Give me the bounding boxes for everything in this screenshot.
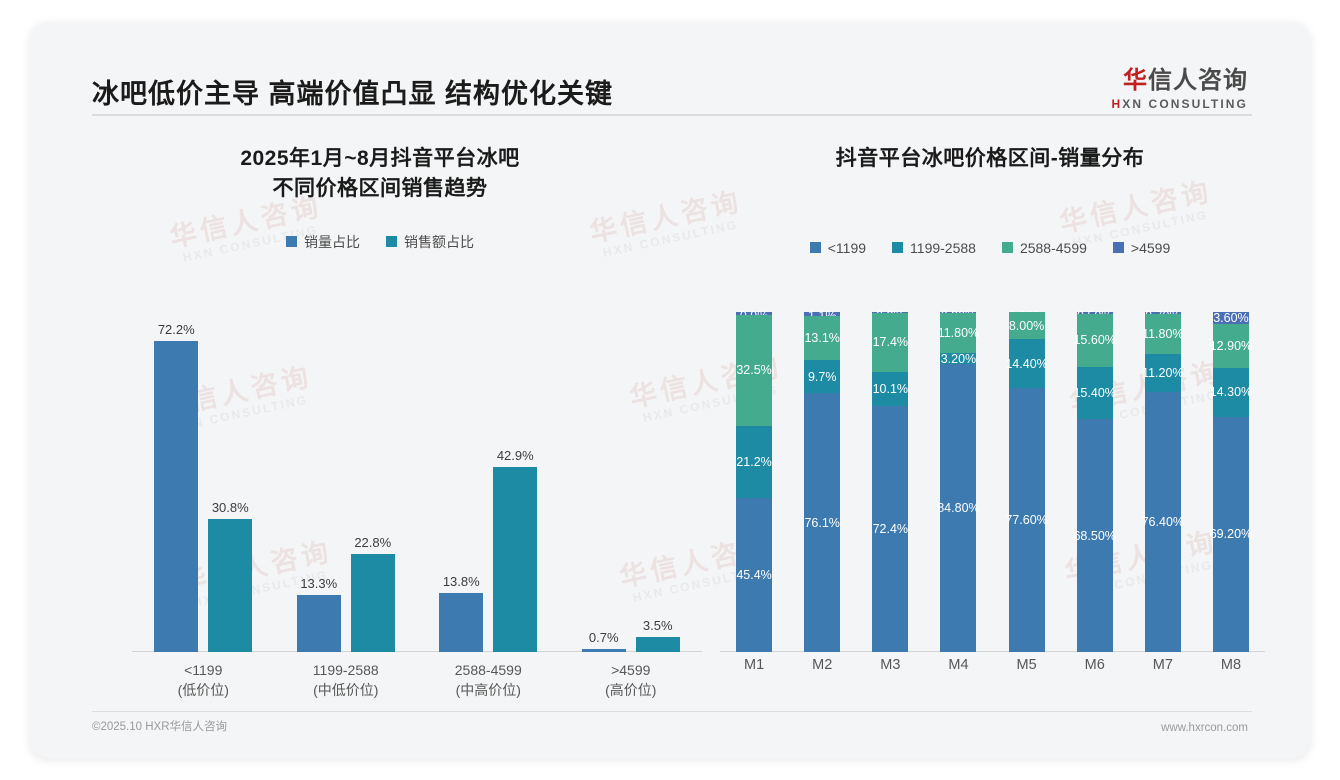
bar-rect[interactable] (208, 519, 252, 652)
legend-label: 销量占比 (304, 232, 360, 252)
stacked-bar-column[interactable]: 0.9%32.5%21.2%45.4% (736, 312, 772, 652)
bar-rect[interactable] (582, 649, 626, 652)
logo-chinese-text: 华信人咨询 (1111, 60, 1248, 95)
footer-copyright: ©2025.10 HXR华信人咨询 (92, 718, 227, 734)
stacked-bar-column[interactable]: 0.2%17.4%10.1%72.4% (872, 312, 908, 652)
legend-label: >4599 (1131, 240, 1170, 256)
slide-container: 华信人咨询 HXN CONSULTING 华信人咨询 HXN CONSULTIN… (30, 22, 1310, 758)
category-label: 1199-2588(中低价位) (313, 660, 379, 701)
left-chart-title: 2025年1月~8月抖音平台冰吧 不同价格区间销售趋势 (70, 144, 690, 204)
legend-item-sales-volume[interactable]: 销量占比 (286, 232, 360, 252)
bar-group: 72.2%30.8% (132, 307, 275, 652)
stack-segment[interactable]: 68.50% (1077, 419, 1113, 652)
bar-rect[interactable] (297, 595, 341, 652)
legend-label: 2588-4599 (1020, 240, 1087, 256)
stack-segment[interactable]: 72.4% (872, 406, 908, 652)
stack-segment-label: 11.20% (1142, 366, 1183, 380)
stack-segment-label: 3.60% (1213, 311, 1248, 325)
stacked-bar-column[interactable]: 0.00%8.00%14.40%77.60% (1009, 312, 1045, 652)
stack-segment[interactable]: 8.00% (1009, 312, 1045, 339)
stack-segment-label: 72.4% (873, 522, 908, 536)
stack-segment-label: 84.80% (937, 501, 979, 515)
stack-segment-label: 15.60% (1073, 333, 1115, 347)
bar-value-label: 72.2% (158, 322, 195, 337)
stack-segment-label: 69.20% (1210, 527, 1252, 541)
stack-segment-label: 17.4% (873, 335, 908, 349)
stack-segment[interactable]: 21.2% (736, 426, 772, 498)
bar-column[interactable]: 3.5% (636, 307, 680, 652)
legend-item-2588-4599[interactable]: 2588-4599 (1002, 240, 1087, 256)
bar-rect[interactable] (439, 593, 483, 653)
bar-rect[interactable] (493, 467, 537, 652)
bar-column[interactable]: 0.7% (582, 307, 626, 652)
bar-group: 13.8%42.9% (417, 307, 560, 652)
bar-group: 13.3%22.8% (275, 307, 418, 652)
stack-segment-label: 13.1% (804, 331, 839, 345)
bar-column[interactable]: 42.9% (493, 307, 537, 652)
company-logo: 华信人咨询 HXN CONSULTING (1111, 60, 1248, 111)
stack-segment[interactable]: 3.60% (1213, 312, 1249, 324)
stack-segment[interactable]: 14.30% (1213, 368, 1249, 417)
stack-segment[interactable]: 11.80% (940, 313, 976, 353)
stack-segment[interactable]: 14.40% (1009, 339, 1045, 388)
stack-segment-label: 68.50% (1073, 529, 1115, 543)
month-label: M6 (1085, 657, 1105, 673)
month-label: M2 (812, 657, 832, 673)
category-label: <1199(低价位) (178, 660, 229, 701)
left-chart-title-line2: 不同价格区间销售趋势 (70, 174, 690, 204)
month-label: M1 (744, 657, 764, 673)
legend-item-sales-amount[interactable]: 销售额占比 (386, 232, 474, 252)
legend-swatch-icon (1002, 242, 1013, 253)
stack-segment-label: 10.1% (873, 382, 908, 396)
month-label: M8 (1221, 657, 1241, 673)
stack-segment-label: 76.1% (804, 516, 839, 530)
stack-segment-label: 77.60% (1005, 513, 1047, 527)
stacked-bar-column[interactable]: 1.1%13.1%9.7%76.1% (804, 312, 840, 652)
page-title: 冰吧低价主导 高端价值凸显 结构优化关键 (92, 72, 613, 111)
legend-item-gt4599[interactable]: >4599 (1113, 240, 1170, 256)
legend-swatch-icon (1113, 242, 1124, 253)
right-chart-title: 抖音平台冰吧价格区间-销量分布 (700, 144, 1280, 174)
legend-item-1199-2588[interactable]: 1199-2588 (892, 240, 976, 256)
stack-segment-label: 11.80% (938, 326, 979, 340)
legend-label: 销售额占比 (404, 232, 474, 252)
right-chart-legend: <1199 1199-2588 2588-4599 >4599 (700, 240, 1280, 256)
bar-rect[interactable] (351, 554, 395, 652)
stack-segment-label: 76.40% (1142, 515, 1184, 529)
left-chart-plot-area: 72.2%30.8%13.3%22.8%13.8%42.9%0.7%3.5% (132, 307, 702, 652)
stack-segment-label: 11.80% (1142, 327, 1183, 341)
month-label: M3 (880, 657, 900, 673)
stacked-bar-column[interactable]: 0.70%11.80%11.20%76.40% (1145, 312, 1181, 652)
left-chart-panel: 2025年1月~8月抖音平台冰吧 不同价格区间销售趋势 销量占比 销售额占比 7… (70, 122, 690, 702)
stack-segment[interactable]: 11.80% (1145, 314, 1181, 354)
legend-label: <1199 (828, 240, 866, 256)
legend-swatch-icon (286, 236, 297, 247)
stack-segment[interactable]: 77.60% (1009, 388, 1045, 652)
bar-value-label: 0.7% (589, 630, 619, 645)
stack-segment[interactable]: 13.1% (804, 316, 840, 361)
legend-swatch-icon (386, 236, 397, 247)
bar-value-label: 3.5% (643, 618, 673, 633)
stacked-bar-column[interactable]: 3.60%12.90%14.30%69.20% (1213, 312, 1249, 652)
category-label-tier: (高价位) (605, 680, 656, 700)
category-label-tier: (中高价位) (455, 680, 522, 700)
footer-website[interactable]: www.hxrcon.com (1161, 722, 1248, 734)
left-chart-title-line1: 2025年1月~8月抖音平台冰吧 (70, 144, 690, 174)
stack-segment-label: 15.40% (1073, 386, 1115, 400)
right-chart-panel: 抖音平台冰吧价格区间-销量分布 <1199 1199-2588 2588-459… (700, 122, 1280, 702)
month-label: M5 (1016, 657, 1036, 673)
stacked-bar-column[interactable]: 0.50%15.60%15.40%68.50% (1077, 312, 1113, 652)
right-chart-month-labels: M1M2M3M4M5M6M7M8 (720, 657, 1265, 687)
category-label: 2588-4599(中高价位) (455, 660, 522, 701)
bar-value-label: 42.9% (497, 448, 534, 463)
bar-rect[interactable] (154, 341, 198, 652)
category-label: >4599(高价位) (605, 660, 656, 701)
stack-segment[interactable]: 11.20% (1145, 354, 1181, 392)
legend-item-lt1199[interactable]: <1199 (810, 240, 866, 256)
stack-segment[interactable]: 76.40% (1145, 392, 1181, 652)
bar-value-label: 30.8% (212, 500, 249, 515)
header-divider (92, 114, 1252, 116)
category-label-range: >4599 (605, 660, 656, 680)
stack-segment-label: 32.5% (736, 363, 771, 377)
legend-swatch-icon (810, 242, 821, 253)
stacked-bar-column[interactable]: 0.30%11.80%3.20%84.80% (940, 312, 976, 652)
slide-header: 冰吧低价主导 高端价值凸显 结构优化关键 华信人咨询 HXN CONSULTIN… (30, 22, 1310, 110)
x-axis-line (720, 651, 1265, 652)
footer-divider (92, 711, 1252, 712)
bar-column[interactable]: 72.2% (154, 307, 198, 652)
month-label: M7 (1153, 657, 1173, 673)
stack-segment[interactable]: 32.5% (736, 315, 772, 426)
category-label-range: 1199-2588 (313, 660, 379, 680)
bar-column[interactable]: 13.8% (439, 307, 483, 652)
category-label-range: 2588-4599 (455, 660, 522, 680)
stack-segment[interactable]: 9.7% (804, 360, 840, 393)
stack-segment-label: 14.30% (1210, 385, 1252, 399)
stack-segment[interactable]: 12.90% (1213, 324, 1249, 368)
stack-segment-label: 21.2% (736, 455, 771, 469)
bar-value-label: 13.3% (300, 576, 337, 591)
legend-swatch-icon (892, 242, 903, 253)
stack-segment[interactable]: 10.1% (872, 372, 908, 406)
stack-segment[interactable]: 17.4% (872, 313, 908, 372)
bar-value-label: 22.8% (354, 535, 391, 550)
bar-value-label: 13.8% (443, 574, 480, 589)
bar-rect[interactable] (636, 637, 680, 652)
bar-group: 0.7%3.5% (560, 307, 703, 652)
month-label: M4 (948, 657, 968, 673)
stack-segment-label: 45.4% (736, 568, 771, 582)
bar-column[interactable]: 13.3% (297, 307, 341, 652)
stack-segment-label: 14.40% (1005, 357, 1047, 371)
stack-segment[interactable]: 84.80% (940, 364, 976, 652)
stack-segment-label: 12.90% (1210, 339, 1252, 353)
bar-column[interactable]: 30.8% (208, 307, 252, 652)
stack-segment[interactable]: 3.20% (940, 353, 976, 364)
stack-segment[interactable]: 69.20% (1213, 417, 1249, 652)
stack-segment-label: 9.7% (808, 370, 837, 384)
stack-segment[interactable]: 76.1% (804, 393, 840, 652)
stack-segment[interactable]: 45.4% (736, 498, 772, 652)
left-chart-legend: 销量占比 销售额占比 (70, 232, 690, 252)
category-label-tier: (中低价位) (313, 680, 379, 700)
bar-column[interactable]: 22.8% (351, 307, 395, 652)
logo-english-text: HXN CONSULTING (1111, 97, 1248, 111)
stack-segment-label: 8.00% (1009, 319, 1044, 333)
category-label-tier: (低价位) (178, 680, 229, 700)
category-label-range: <1199 (178, 660, 229, 680)
right-chart-plot-area: 0.9%32.5%21.2%45.4%1.1%13.1%9.7%76.1%0.2… (720, 312, 1265, 652)
legend-label: 1199-2588 (910, 240, 976, 256)
stack-segment[interactable]: 15.40% (1077, 367, 1113, 419)
stack-segment[interactable]: 15.60% (1077, 314, 1113, 367)
